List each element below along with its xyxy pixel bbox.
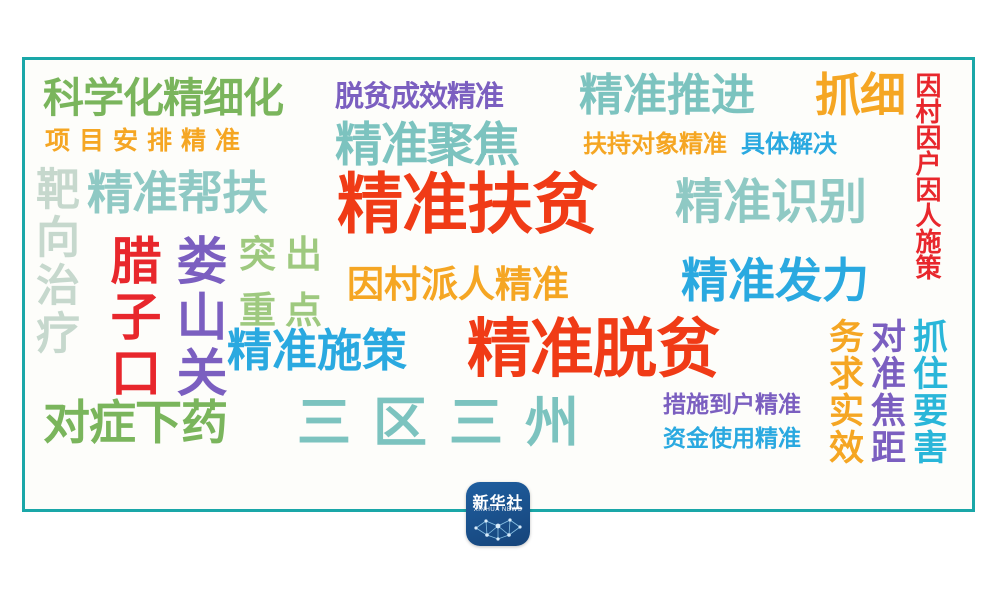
word-duizhunjiaoju: 对准焦距 [867, 318, 902, 466]
word-jingzhuntuopin: 精准脱贫 [467, 318, 719, 382]
word-sanqusanzhou: 三区三州 [297, 396, 601, 450]
word-loushanguan: 娄山关 [171, 234, 222, 402]
word-xiangmuanpaijingzhun: 项目安排精准 [45, 128, 249, 153]
word-cuoshidaohujingzhun: 措施到户精准 [663, 394, 801, 417]
word-jingzhunfali: 精准发力 [681, 258, 869, 305]
word-jutijiejue: 具体解决 [741, 132, 837, 156]
word-cuncunhuhurenrenshice: 因村因户因人施策 [913, 72, 939, 280]
word-baxiangzhiliao: 靶向治疗 [31, 166, 75, 358]
word-fuchiduixiangjingzhun: 扶持对象精准 [583, 132, 727, 156]
xinhua-news-logo: 新华社 XINHUA NEWS [466, 482, 530, 546]
word-tuopinchengxiaojingzhun: 脱贫成效精准 [335, 82, 503, 111]
logo-en-text: XINHUA NEWS [466, 507, 530, 513]
word-duizhengxiayao: 对症下药 [43, 400, 227, 447]
word-wuqiushixiao: 务求实效 [825, 318, 860, 466]
word-tuchu: 突出 [239, 236, 331, 273]
word-kexuehuajingxihua: 科学化精细化 [43, 78, 283, 119]
word-jingzhunshibie: 精准识别 [675, 178, 867, 226]
poster-frame: 科学化精细化 脱贫成效精准 精准推进 抓细 项目安排精准 精准聚焦 扶持对象精准… [22, 57, 975, 512]
word-lazikou: 腊子口 [105, 234, 156, 402]
poster-canvas: 科学化精细化 脱贫成效精准 精准推进 抓细 项目安排精准 精准聚焦 扶持对象精准… [0, 0, 1000, 596]
word-jingzhunfupin: 精准扶贫 [337, 172, 597, 238]
word-zhuaxi: 抓细 [815, 72, 905, 118]
word-yincunpairenjingzhun: 因村派人精准 [347, 266, 569, 303]
word-jingzhunbangfu: 精准帮扶 [87, 170, 267, 216]
word-zhuazhuyaohai: 抓住要害 [909, 318, 944, 466]
network-graphic-icon [472, 515, 524, 541]
word-jingzhuntuijin: 精准推进 [579, 74, 755, 118]
word-jingzhunshice: 精准施策 [227, 328, 407, 373]
word-jingzhunjujiao: 精准聚焦 [335, 122, 519, 169]
word-zijinshiyongjingzhun: 资金使用精准 [663, 428, 801, 451]
